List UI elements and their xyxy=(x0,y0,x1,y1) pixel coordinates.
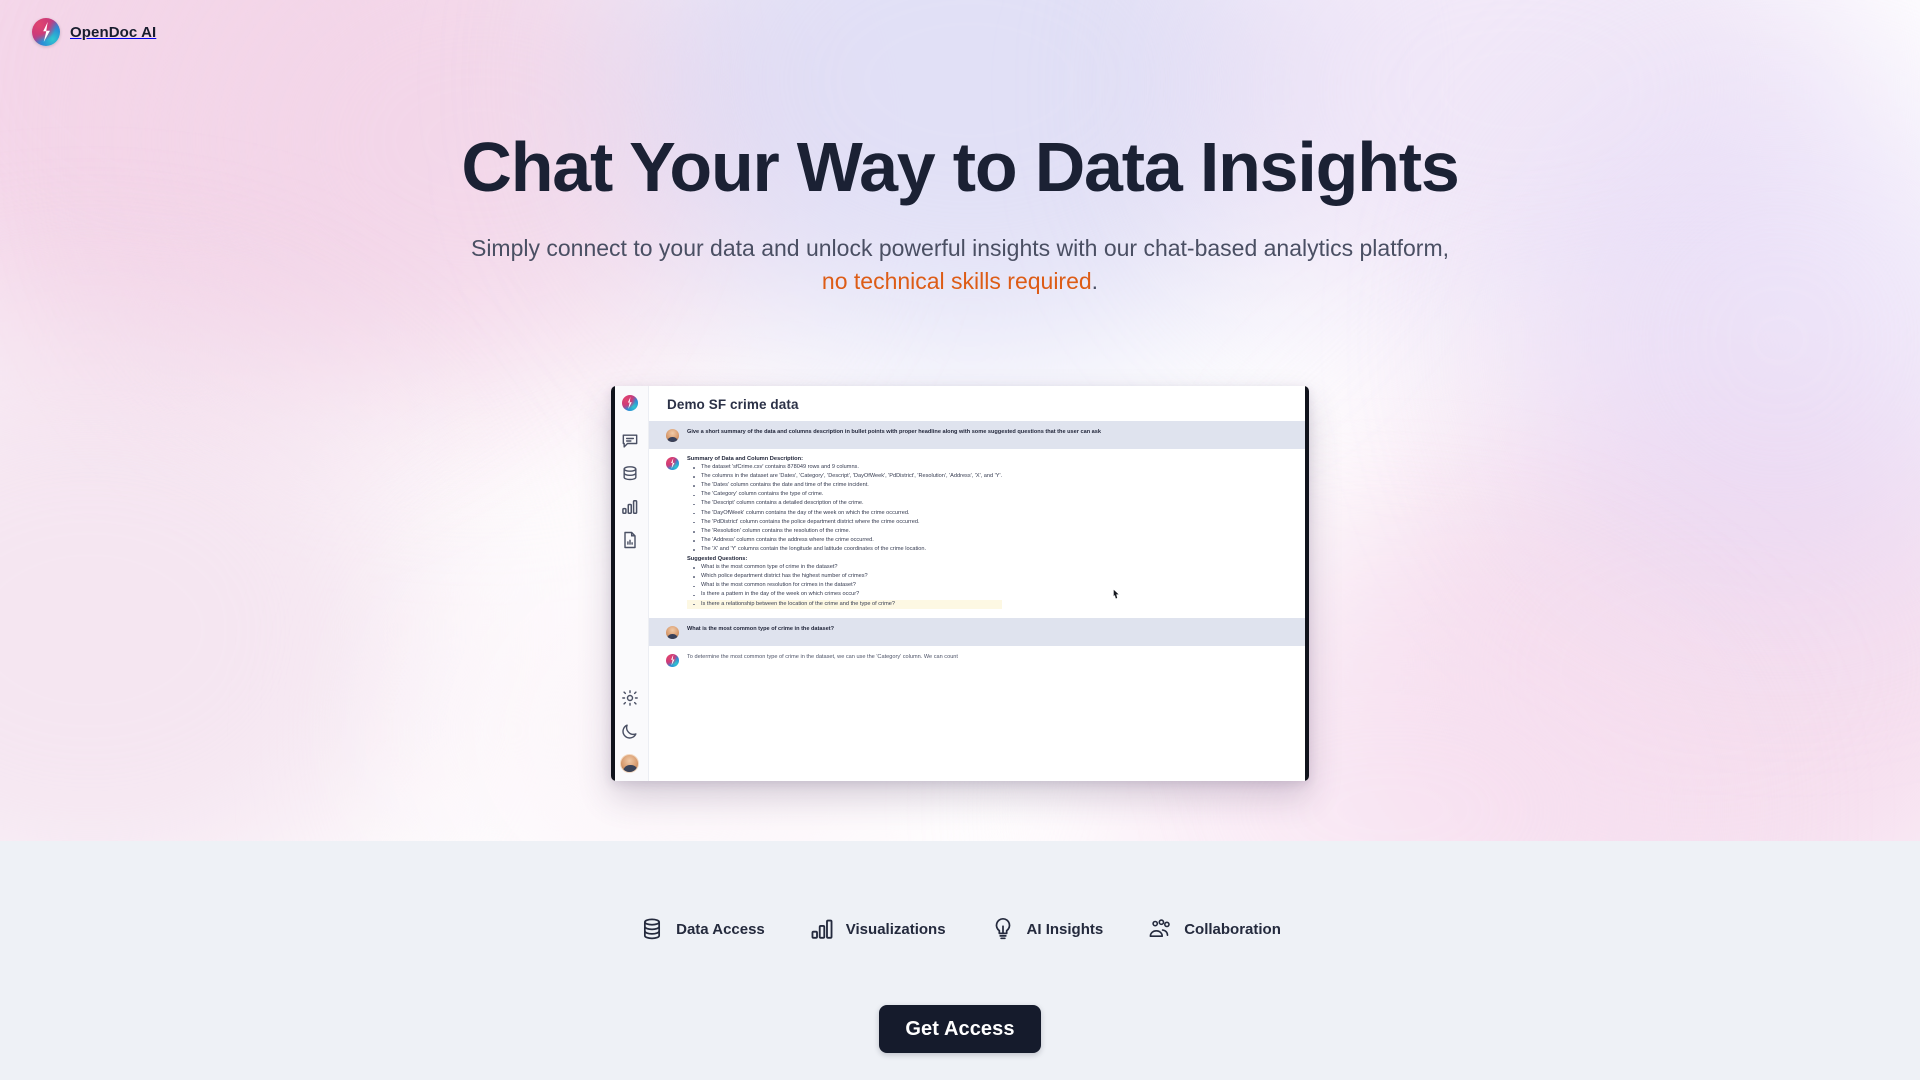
user-avatar-icon[interactable] xyxy=(620,754,639,773)
brand-logo-link[interactable]: OpenDoc AI xyxy=(32,18,156,46)
get-access-button[interactable]: Get Access xyxy=(879,1005,1040,1053)
list-item: The 'DayOfWeek' column contains the day … xyxy=(687,509,1002,518)
app-sidebar xyxy=(611,386,649,781)
opendoc-logo-lightning-icon xyxy=(32,18,60,46)
feature-list: Data Access Visualizations AI Insigh xyxy=(0,916,1920,942)
suggested-question-item[interactable]: Which police department district has the… xyxy=(687,572,1002,581)
feature-label: Data Access xyxy=(676,921,765,938)
list-item: The dataset 'sfCrime.csv' contains 87804… xyxy=(687,463,1002,472)
feature-item-data-access: Data Access xyxy=(639,916,765,942)
suggested-questions-heading: Suggested Questions: xyxy=(687,556,1002,562)
moon-icon[interactable] xyxy=(620,721,640,741)
people-group-icon xyxy=(1147,916,1173,942)
screenshot-right-border xyxy=(1305,386,1309,781)
feature-item-ai-insights: AI Insights xyxy=(990,916,1104,942)
list-item: The 'PdDistrict' column contains the pol… xyxy=(687,518,1002,527)
list-item: The 'Address' column contains the addres… xyxy=(687,536,1002,545)
summary-heading: Summary of Data and Column Description: xyxy=(687,456,1002,462)
mouse-cursor-icon xyxy=(1113,589,1120,599)
assistant-answer-body: Summary of Data and Column Description: … xyxy=(687,456,1002,611)
list-item: The 'X' and 'Y' columns contain the long… xyxy=(687,545,1002,554)
hero-subtitle-line1: Simply connect to your data and unlock p… xyxy=(471,235,1449,261)
list-item: The columns in the dataset are 'Dates', … xyxy=(687,472,1002,481)
hero-subtitle-period: . xyxy=(1092,268,1098,294)
screenshot-left-border xyxy=(611,386,615,781)
app-dataset-title: Demo SF crime data xyxy=(649,386,1309,421)
brand-name: OpenDoc AI xyxy=(70,24,156,41)
chat-message-assistant: Summary of Data and Column Description: … xyxy=(649,449,1309,618)
chat-message-text: What is the most common type of crime in… xyxy=(687,625,834,639)
chat-bubble-icon[interactable] xyxy=(620,431,640,451)
cta-row: Get Access xyxy=(0,1005,1920,1053)
bar-chart-icon xyxy=(809,916,835,942)
list-item: The 'Dates' column contains the date and… xyxy=(687,481,1002,490)
product-screenshot: Demo SF crime data Give a short summary … xyxy=(611,386,1309,781)
summary-bullet-list: The dataset 'sfCrime.csv' contains 87804… xyxy=(687,463,1002,554)
database-icon xyxy=(639,916,665,942)
hero-subtitle-highlight: no technical skills required xyxy=(822,268,1092,294)
user-avatar-icon xyxy=(666,429,679,442)
list-item: The 'Category' column contains the type … xyxy=(687,490,1002,499)
chat-message-text: To determine the most common type of cri… xyxy=(687,653,958,667)
feature-label: AI Insights xyxy=(1027,921,1104,938)
chat-message-user: Give a short summary of the data and col… xyxy=(649,421,1309,449)
opendoc-logo-icon xyxy=(666,654,679,667)
database-icon[interactable] xyxy=(620,464,640,484)
opendoc-logo-icon[interactable] xyxy=(622,395,638,411)
chat-message-user: What is the most common type of crime in… xyxy=(649,618,1309,646)
feature-label: Collaboration xyxy=(1184,921,1281,938)
suggested-question-item-hovered[interactable]: Is there a relationship between the loca… xyxy=(687,600,1002,609)
list-item: The 'Descript' column contains a detaile… xyxy=(687,499,1002,508)
app-chat-pane: Demo SF crime data Give a short summary … xyxy=(649,386,1309,781)
page-title: Chat Your Way to Data Insights xyxy=(0,130,1920,206)
suggested-question-item[interactable]: Is there a pattern in the day of the wee… xyxy=(687,590,1002,599)
list-item: The 'Resolution' column contains the res… xyxy=(687,527,1002,536)
opendoc-logo-icon xyxy=(666,457,679,470)
chat-message-text: Give a short summary of the data and col… xyxy=(687,428,1101,442)
bar-chart-icon[interactable] xyxy=(620,497,640,517)
feature-item-collaboration: Collaboration xyxy=(1147,916,1281,942)
feature-label: Visualizations xyxy=(846,921,946,938)
document-report-icon[interactable] xyxy=(620,530,640,550)
suggested-question-item[interactable]: What is the most common resolution for c… xyxy=(687,581,1002,590)
bg-gradient-blob xyxy=(1320,360,1920,841)
hero-subtitle: Simply connect to your data and unlock p… xyxy=(0,232,1920,297)
user-avatar-icon xyxy=(666,626,679,639)
gear-icon[interactable] xyxy=(620,688,640,708)
lightbulb-icon xyxy=(990,916,1016,942)
suggested-question-item[interactable]: What is the most common type of crime in… xyxy=(687,563,1002,572)
bg-gradient-blob xyxy=(0,330,440,841)
features-section: Data Access Visualizations AI Insigh xyxy=(0,841,1920,1080)
suggested-questions-list: What is the most common type of crime in… xyxy=(687,563,1002,609)
feature-item-visualizations: Visualizations xyxy=(809,916,946,942)
chat-message-assistant: To determine the most common type of cri… xyxy=(649,646,1309,674)
